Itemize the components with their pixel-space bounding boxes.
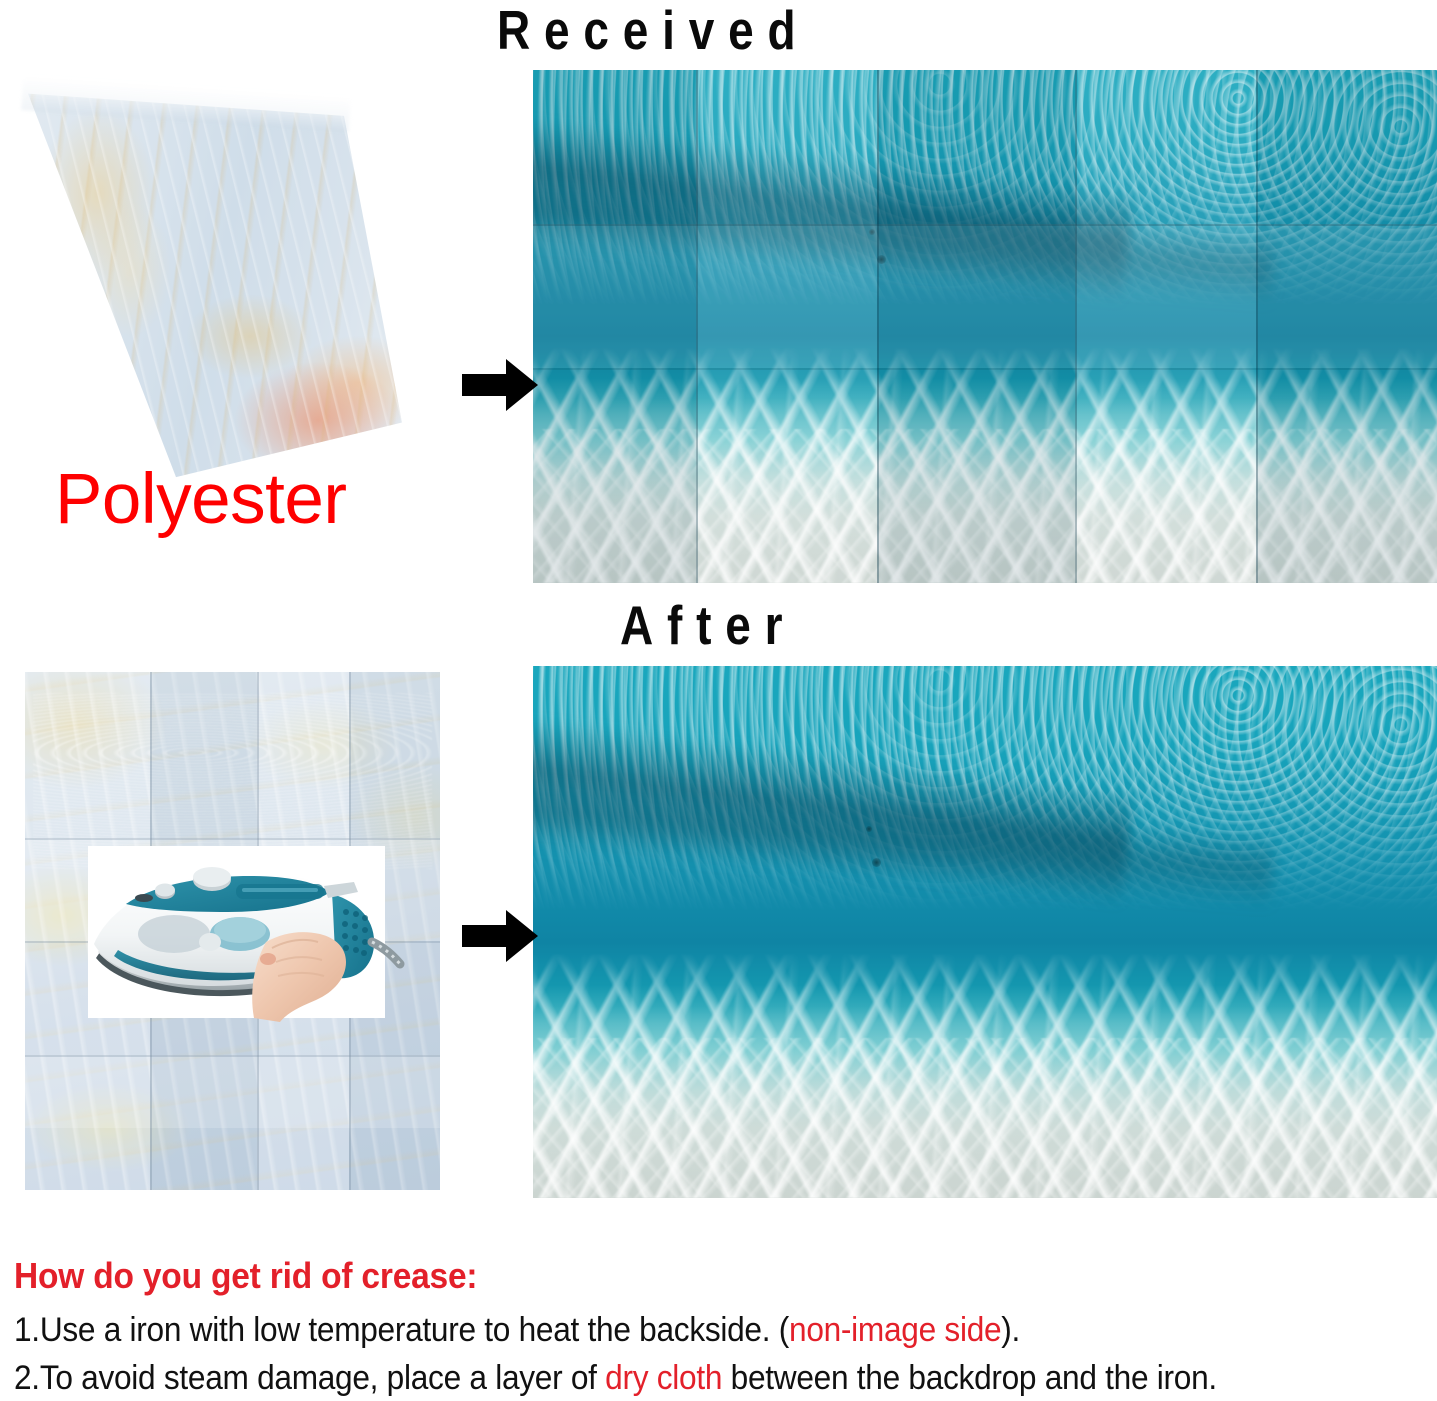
received-section-title: Received (497, 3, 809, 57)
iron-in-use-photo (88, 846, 385, 1018)
instruction-line-1-suffix: ). (1001, 1311, 1020, 1349)
water-speck (877, 255, 886, 264)
instruction-line-1: 1.Use a iron with low temperature to hea… (14, 1308, 1325, 1352)
iron-dark-slot (135, 894, 153, 902)
fabric-crease-line-horizontal (25, 838, 440, 840)
instruction-line-2-prefix: 2.To avoid steam damage, place a layer o… (14, 1359, 605, 1397)
instructions-heading: How do you get rid of crease: (14, 1253, 1325, 1298)
instruction-line-1-prefix: 1.Use a iron with low temperature to hea… (14, 1311, 789, 1349)
hand-icon (252, 932, 346, 1022)
iron-water-tank (138, 915, 210, 953)
arrow-right-icon (462, 908, 538, 969)
material-label-polyester: Polyester (55, 464, 346, 535)
instruction-line-2: 2.To avoid steam damage, place a layer o… (14, 1356, 1325, 1400)
folded-fabric-image (6, 76, 406, 496)
fingernail (260, 953, 276, 965)
arrow-right-icon (462, 357, 538, 418)
instruction-line-1-highlight: non-image side (789, 1311, 1001, 1349)
instruction-line-2-highlight: dry cloth (605, 1359, 722, 1397)
after-section-title: After (620, 598, 796, 652)
fabric-crease-line-horizontal (25, 1055, 440, 1057)
folded-fabric-veining (6, 76, 406, 496)
iron-spray-button (199, 933, 221, 951)
received-backdrop-photo (533, 70, 1437, 583)
after-backdrop-photo (533, 666, 1437, 1198)
care-instructions: How do you get rid of crease: 1.Use a ir… (14, 1253, 1424, 1400)
instruction-line-2-suffix: between the backdrop and the iron. (722, 1359, 1217, 1397)
fabric-crease-panel-horizontal (25, 1055, 440, 1128)
water-speck (872, 858, 881, 867)
caustic-light-net-fine (533, 1038, 1437, 1198)
product-instruction-graphic: Received Polyester (0, 0, 1437, 1401)
water-speck (866, 826, 872, 832)
caustic-light-net-fine (533, 429, 1437, 583)
